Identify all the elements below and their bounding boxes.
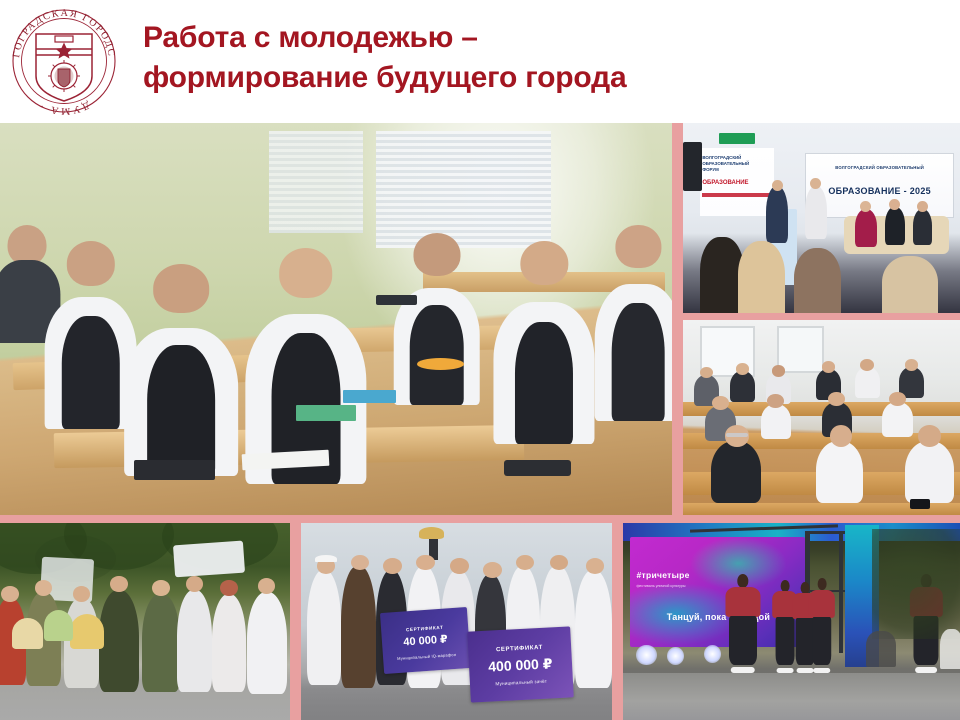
photo-dance-stage: #тричетыре фестиваль уличной культуры Та… [623,523,960,720]
photo-education-forum: ВОЛГОГРАДСКИЙ ОБРАЗОВАТЕЛЬНЫЙ ОБРАЗОВАНИ… [683,123,960,313]
page-title: Работа с молодежью – формирование будуще… [143,18,923,98]
photo-collage: ВОЛГОГРАДСКИЙ ОБРАЗОВАТЕЛЬНЫЙ ОБРАЗОВАНИ… [0,123,960,720]
stage-hashtag-subtitle: фестиваль уличной культуры [636,584,685,588]
forum-left-banner-title: ОБРАЗОВАНИЕ [702,180,771,186]
certificate-small-amount: 40 000 ₽ [382,631,470,650]
photo-classroom-students [0,123,672,515]
presentation-slide: ВОЛГОГРАДСКАЯ ГОРОДСКАЯ ДУМА · [0,0,960,720]
photo-outdoor-gathering [0,523,290,720]
forum-left-banner-text: ВОЛГОГРАДСКИЙ ОБРАЗОВАТЕЛЬНЫЙ ФОРУМ [702,155,771,173]
forum-banner-title: ОБРАЗОВАНИЕ - 2025 [810,186,949,196]
certificate-board-400000: СЕРТИФИКАТ 400 000 ₽ Муниципальный зачёт [467,627,573,703]
photo-lecture-hall-students [683,320,960,515]
volgograd-city-duma-emblem-icon: ВОЛГОГРАДСКАЯ ГОРОДСКАЯ ДУМА · [5,2,123,120]
certificate-large-label: СЕРТИФИКАТ [468,644,571,655]
certificate-large-sub: Муниципальный зачёт [470,678,573,688]
stage-hashtag: #тричетыре [636,570,689,580]
slide-header: ВОЛГОГРАДСКАЯ ГОРОДСКАЯ ДУМА · [0,0,960,123]
certificate-large-amount: 400 000 ₽ [469,655,572,677]
forum-banner-subtitle: ВОЛГОГРАДСКИЙ ОБРАЗОВАТЕЛЬНЫЙ [810,165,949,170]
photo-grant-certificates: СЕРТИФИКАТ 40 000 ₽ Муниципальный IQ-мар… [301,523,612,720]
exit-sign-icon [719,133,755,144]
certificate-board-40000: СЕРТИФИКАТ 40 000 ₽ Муниципальный IQ-мар… [380,607,471,674]
certificate-small-sub: Муниципальный IQ-марафон [383,651,470,662]
